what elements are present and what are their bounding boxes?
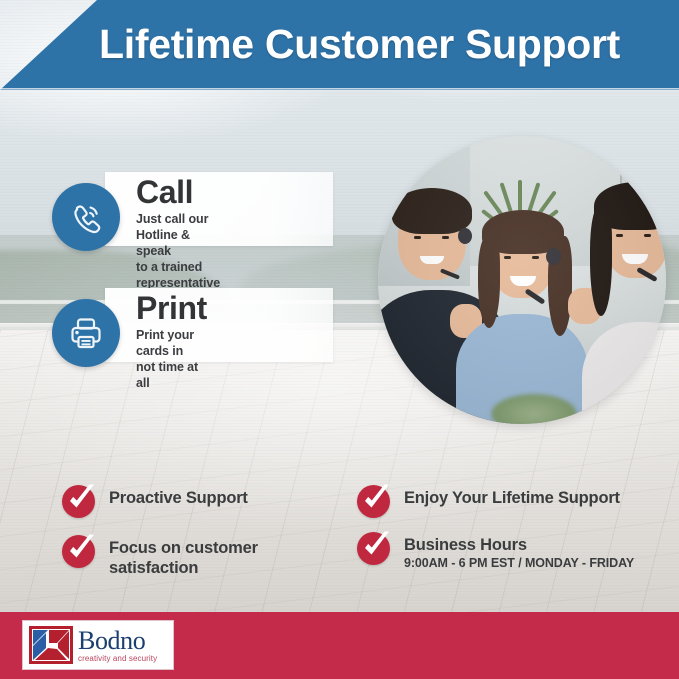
feature-call-title: Call xyxy=(136,176,220,209)
feature-print-title: Print xyxy=(136,292,207,325)
bodno-logo[interactable]: Bodno creativity and security xyxy=(22,620,174,670)
feature-print-text: Print Print your cards in not time at al… xyxy=(136,292,207,391)
bullet-business-hours: Business Hours 9:00AM - 6 PM EST / MONDA… xyxy=(357,532,634,570)
feature-call-text: Call Just call our Hotline & speak to a … xyxy=(136,176,220,291)
bodno-card-logo-icon xyxy=(29,626,73,664)
agents-photo xyxy=(378,136,666,424)
header-banner-inner: Lifetime Customer Support xyxy=(0,0,679,88)
phone-call-icon xyxy=(52,183,120,251)
bullet-hours-subtitle: 9:00AM - 6 PM EST / MONDAY - FRIDAY xyxy=(404,556,634,570)
page-title: Lifetime Customer Support xyxy=(99,21,620,68)
feature-print-description: Print your cards in not time at all xyxy=(136,327,207,391)
photo-vignette xyxy=(378,136,666,424)
bodno-logo-name: Bodno xyxy=(78,628,157,654)
check-circle-icon xyxy=(62,535,95,568)
bullet-proactive-text: Proactive Support xyxy=(109,485,248,508)
printer-icon xyxy=(52,299,120,367)
bodno-logo-text: Bodno creativity and security xyxy=(78,628,157,663)
feature-call-description: Just call our Hotline & speak to a train… xyxy=(136,211,220,291)
header-banner: Lifetime Customer Support xyxy=(0,0,679,90)
check-circle-icon xyxy=(357,485,390,518)
support-poster: Lifetime Customer Support xyxy=(0,0,679,679)
footer-bar: Bodno creativity and security xyxy=(0,612,679,679)
bullet-proactive-support: Proactive Support xyxy=(62,485,248,518)
bullet-focus-customer-satisfaction: Focus on customer satisfaction xyxy=(62,535,258,578)
check-circle-icon xyxy=(357,532,390,565)
bullet-enjoy-title: Enjoy Your Lifetime Support xyxy=(404,488,620,508)
bullet-focus-title: Focus on customer satisfaction xyxy=(109,538,258,578)
check-circle-icon xyxy=(62,485,95,518)
bullet-enjoy-text: Enjoy Your Lifetime Support xyxy=(404,485,620,508)
bullet-enjoy-lifetime-support: Enjoy Your Lifetime Support xyxy=(357,485,620,518)
bodno-logo-tagline: creativity and security xyxy=(78,655,157,663)
bullet-proactive-title: Proactive Support xyxy=(109,488,248,508)
bullet-hours-title: Business Hours xyxy=(404,535,634,555)
bullet-hours-text: Business Hours 9:00AM - 6 PM EST / MONDA… xyxy=(404,532,634,570)
header-banner-edge xyxy=(0,88,679,91)
bullet-focus-text: Focus on customer satisfaction xyxy=(109,535,258,578)
